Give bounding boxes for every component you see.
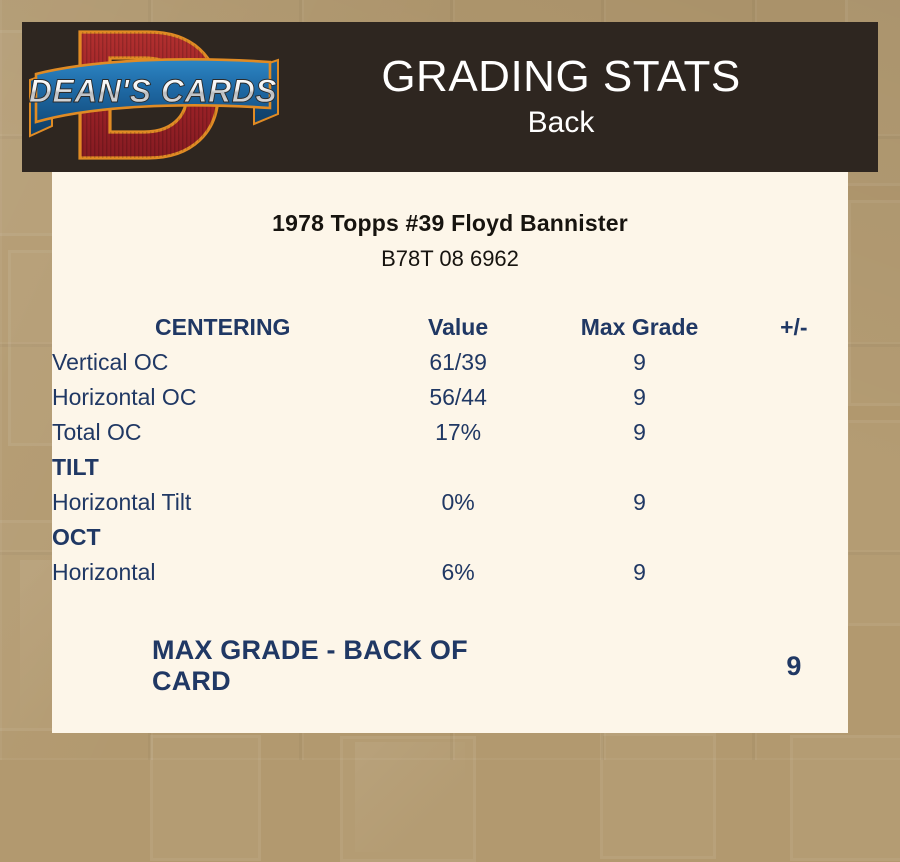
row-plus-minus <box>740 555 848 590</box>
summary-label: MAX GRADE - BACK OF CARD <box>52 634 539 698</box>
content-panel: 1978 Topps #39 Floyd Bannister B78T 08 6… <box>52 172 848 733</box>
summary-value: 9 <box>740 634 848 698</box>
row-max-grade: 9 <box>539 345 739 380</box>
row-label: Horizontal <box>52 555 377 590</box>
deans-cards-logo[interactable]: DEAN'S CARDS <box>22 22 284 172</box>
row-label: Vertical OC <box>52 345 377 380</box>
background-diagonal-sheen <box>355 742 465 852</box>
header-titles: GRADING STATS Back <box>284 52 878 142</box>
table-header-row: CENTERING Value Max Grade +/- <box>52 310 848 345</box>
card-id: B78T 08 6962 <box>52 246 848 272</box>
table-row: Vertical OC 61/39 9 <box>52 345 848 380</box>
background-card-ghost <box>790 735 900 861</box>
background-card-ghost <box>848 200 900 406</box>
row-plus-minus <box>740 485 848 520</box>
logo-wordmark: DEAN'S CARDS <box>29 73 277 109</box>
row-value: 56/44 <box>377 380 539 415</box>
max-grade-summary: MAX GRADE - BACK OF CARD 9 <box>52 634 848 698</box>
row-value: 17% <box>377 415 539 450</box>
section-label-tilt: TILT <box>52 450 377 485</box>
section-spacer <box>740 520 848 555</box>
background-card-ghost <box>150 735 261 861</box>
summary-line: MAX GRADE - BACK OF CARD 9 <box>52 634 848 698</box>
header-band: DEAN'S CARDS GRADING STATS Back <box>22 22 878 172</box>
column-header-centering: CENTERING <box>52 310 377 345</box>
row-plus-minus <box>740 345 848 380</box>
row-max-grade: 9 <box>539 380 739 415</box>
column-header-value: Value <box>377 310 539 345</box>
table-row: Horizontal OC 56/44 9 <box>52 380 848 415</box>
section-spacer <box>539 450 739 485</box>
section-spacer <box>377 450 539 485</box>
row-label: Horizontal Tilt <box>52 485 377 520</box>
column-header-plus-minus: +/- <box>740 310 848 345</box>
table-row: Horizontal 6% 9 <box>52 555 848 590</box>
section-header-row: OCT <box>52 520 848 555</box>
summary-spacer <box>539 634 739 698</box>
grading-stats-table: CENTERING Value Max Grade +/- Vertical O… <box>52 310 848 590</box>
row-value: 61/39 <box>377 345 539 380</box>
row-max-grade: 9 <box>539 415 739 450</box>
section-header-row: TILT <box>52 450 848 485</box>
table-row: Horizontal Tilt 0% 9 <box>52 485 848 520</box>
row-plus-minus <box>740 380 848 415</box>
section-spacer <box>377 520 539 555</box>
section-spacer <box>740 450 848 485</box>
card-title: 1978 Topps #39 Floyd Bannister <box>52 210 848 237</box>
row-plus-minus <box>740 415 848 450</box>
background-card-ghost <box>846 420 900 626</box>
section-spacer <box>539 520 739 555</box>
section-label-oct: OCT <box>52 520 377 555</box>
table-body: Vertical OC 61/39 9 Horizontal OC 56/44 … <box>52 345 848 590</box>
page-subtitle: Back <box>284 104 838 142</box>
row-max-grade: 9 <box>539 555 739 590</box>
row-value: 6% <box>377 555 539 590</box>
table-row: Total OC 17% 9 <box>52 415 848 450</box>
row-value: 0% <box>377 485 539 520</box>
row-label: Horizontal OC <box>52 380 377 415</box>
column-header-max-grade: Max Grade <box>539 310 739 345</box>
table-head: CENTERING Value Max Grade +/- <box>52 310 848 345</box>
row-label: Total OC <box>52 415 377 450</box>
background-card-ghost <box>600 733 716 859</box>
page-title: GRADING STATS <box>284 52 838 102</box>
row-max-grade: 9 <box>539 485 739 520</box>
